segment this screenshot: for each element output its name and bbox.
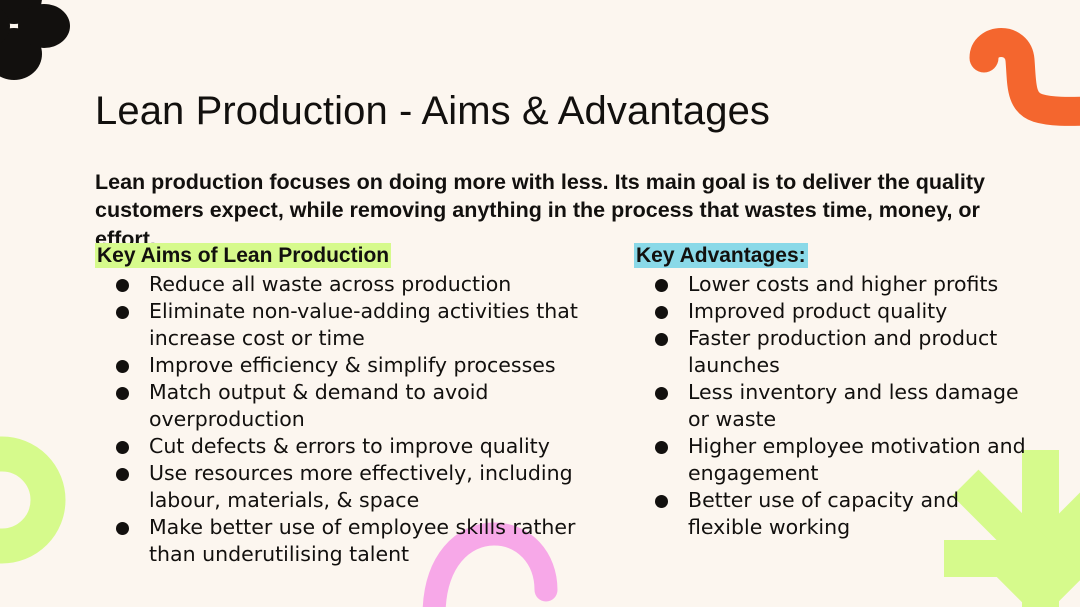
list-item: Faster production and product launches bbox=[634, 325, 1030, 379]
column-heading-key-advantages-text: Key Advantages: bbox=[634, 243, 808, 268]
list-item: Match output & demand to avoid overprodu… bbox=[95, 379, 592, 433]
column-key-advantages: Key Advantages: Lower costs and higher p… bbox=[634, 243, 1030, 568]
list-item: Reduce all waste across production bbox=[95, 271, 592, 298]
bullet-dot-icon bbox=[655, 441, 668, 454]
bullet-dot-icon bbox=[116, 279, 129, 292]
list-item-text: Improved product quality bbox=[688, 299, 947, 323]
bullet-dot-icon bbox=[116, 360, 129, 373]
list-item-text: Cut defects & errors to improve quality bbox=[149, 434, 550, 458]
list-item: Lower costs and higher profits bbox=[634, 271, 1030, 298]
list-item: Use resources more effectively, includin… bbox=[95, 460, 592, 514]
list-item-text: Better use of capacity and flexible work… bbox=[688, 488, 959, 539]
list-item: Cut defects & errors to improve quality bbox=[95, 433, 592, 460]
column-heading-key-aims-text: Key Aims of Lean Production bbox=[95, 243, 391, 268]
list-item-text: Match output & demand to avoid overprodu… bbox=[149, 380, 488, 431]
bullet-dot-icon bbox=[116, 441, 129, 454]
bullet-dot-icon bbox=[116, 306, 129, 319]
list-item-text: Improve efficiency & simplify processes bbox=[149, 353, 556, 377]
list-item: Less inventory and less damage or waste bbox=[634, 379, 1030, 433]
list-item-text: Less inventory and less damage or waste bbox=[688, 380, 1019, 431]
list-item-text: Make better use of employee skills rathe… bbox=[149, 515, 575, 566]
list-item: Improve efficiency & simplify processes bbox=[95, 352, 592, 379]
bullet-dot-icon bbox=[116, 387, 129, 400]
column-heading-key-aims: Key Aims of Lean Production bbox=[95, 243, 592, 269]
column-key-aims: Key Aims of Lean Production Reduce all w… bbox=[95, 243, 592, 568]
list-item-text: Higher employee motivation and engagemen… bbox=[688, 434, 1026, 485]
list-item: Higher employee motivation and engagemen… bbox=[634, 433, 1030, 487]
page-title: Lean Production - Aims & Advantages bbox=[95, 89, 770, 134]
bullet-list-key-advantages: Lower costs and higher profits Improved … bbox=[634, 271, 1030, 541]
bullet-dot-icon bbox=[655, 279, 668, 292]
two-column-layout: Key Aims of Lean Production Reduce all w… bbox=[95, 243, 1030, 568]
slide-content: Lean Production - Aims & Advantages Lean… bbox=[0, 0, 1080, 607]
list-item-text: Reduce all waste across production bbox=[149, 272, 511, 296]
bullet-dot-icon bbox=[116, 468, 129, 481]
bullet-dot-icon bbox=[655, 387, 668, 400]
slide-canvas: Lean Production - Aims & Advantages Lean… bbox=[0, 0, 1080, 607]
list-item-text: Lower costs and higher profits bbox=[688, 272, 998, 296]
bullet-dot-icon bbox=[655, 495, 668, 508]
list-item-text: Eliminate non-value-adding activities th… bbox=[149, 299, 578, 350]
list-item-text: Faster production and product launches bbox=[688, 326, 997, 377]
list-item-text: Use resources more effectively, includin… bbox=[149, 461, 573, 512]
bullet-dot-icon bbox=[655, 306, 668, 319]
bullet-dot-icon bbox=[116, 522, 129, 535]
list-item: Improved product quality bbox=[634, 298, 1030, 325]
intro-paragraph: Lean production focuses on doing more wi… bbox=[95, 168, 1000, 254]
list-item: Eliminate non-value-adding activities th… bbox=[95, 298, 592, 352]
bullet-dot-icon bbox=[655, 333, 668, 346]
bullet-list-key-aims: Reduce all waste across production Elimi… bbox=[95, 271, 592, 568]
list-item: Make better use of employee skills rathe… bbox=[95, 514, 592, 568]
column-heading-key-advantages: Key Advantages: bbox=[634, 243, 1030, 269]
list-item: Better use of capacity and flexible work… bbox=[634, 487, 1030, 541]
